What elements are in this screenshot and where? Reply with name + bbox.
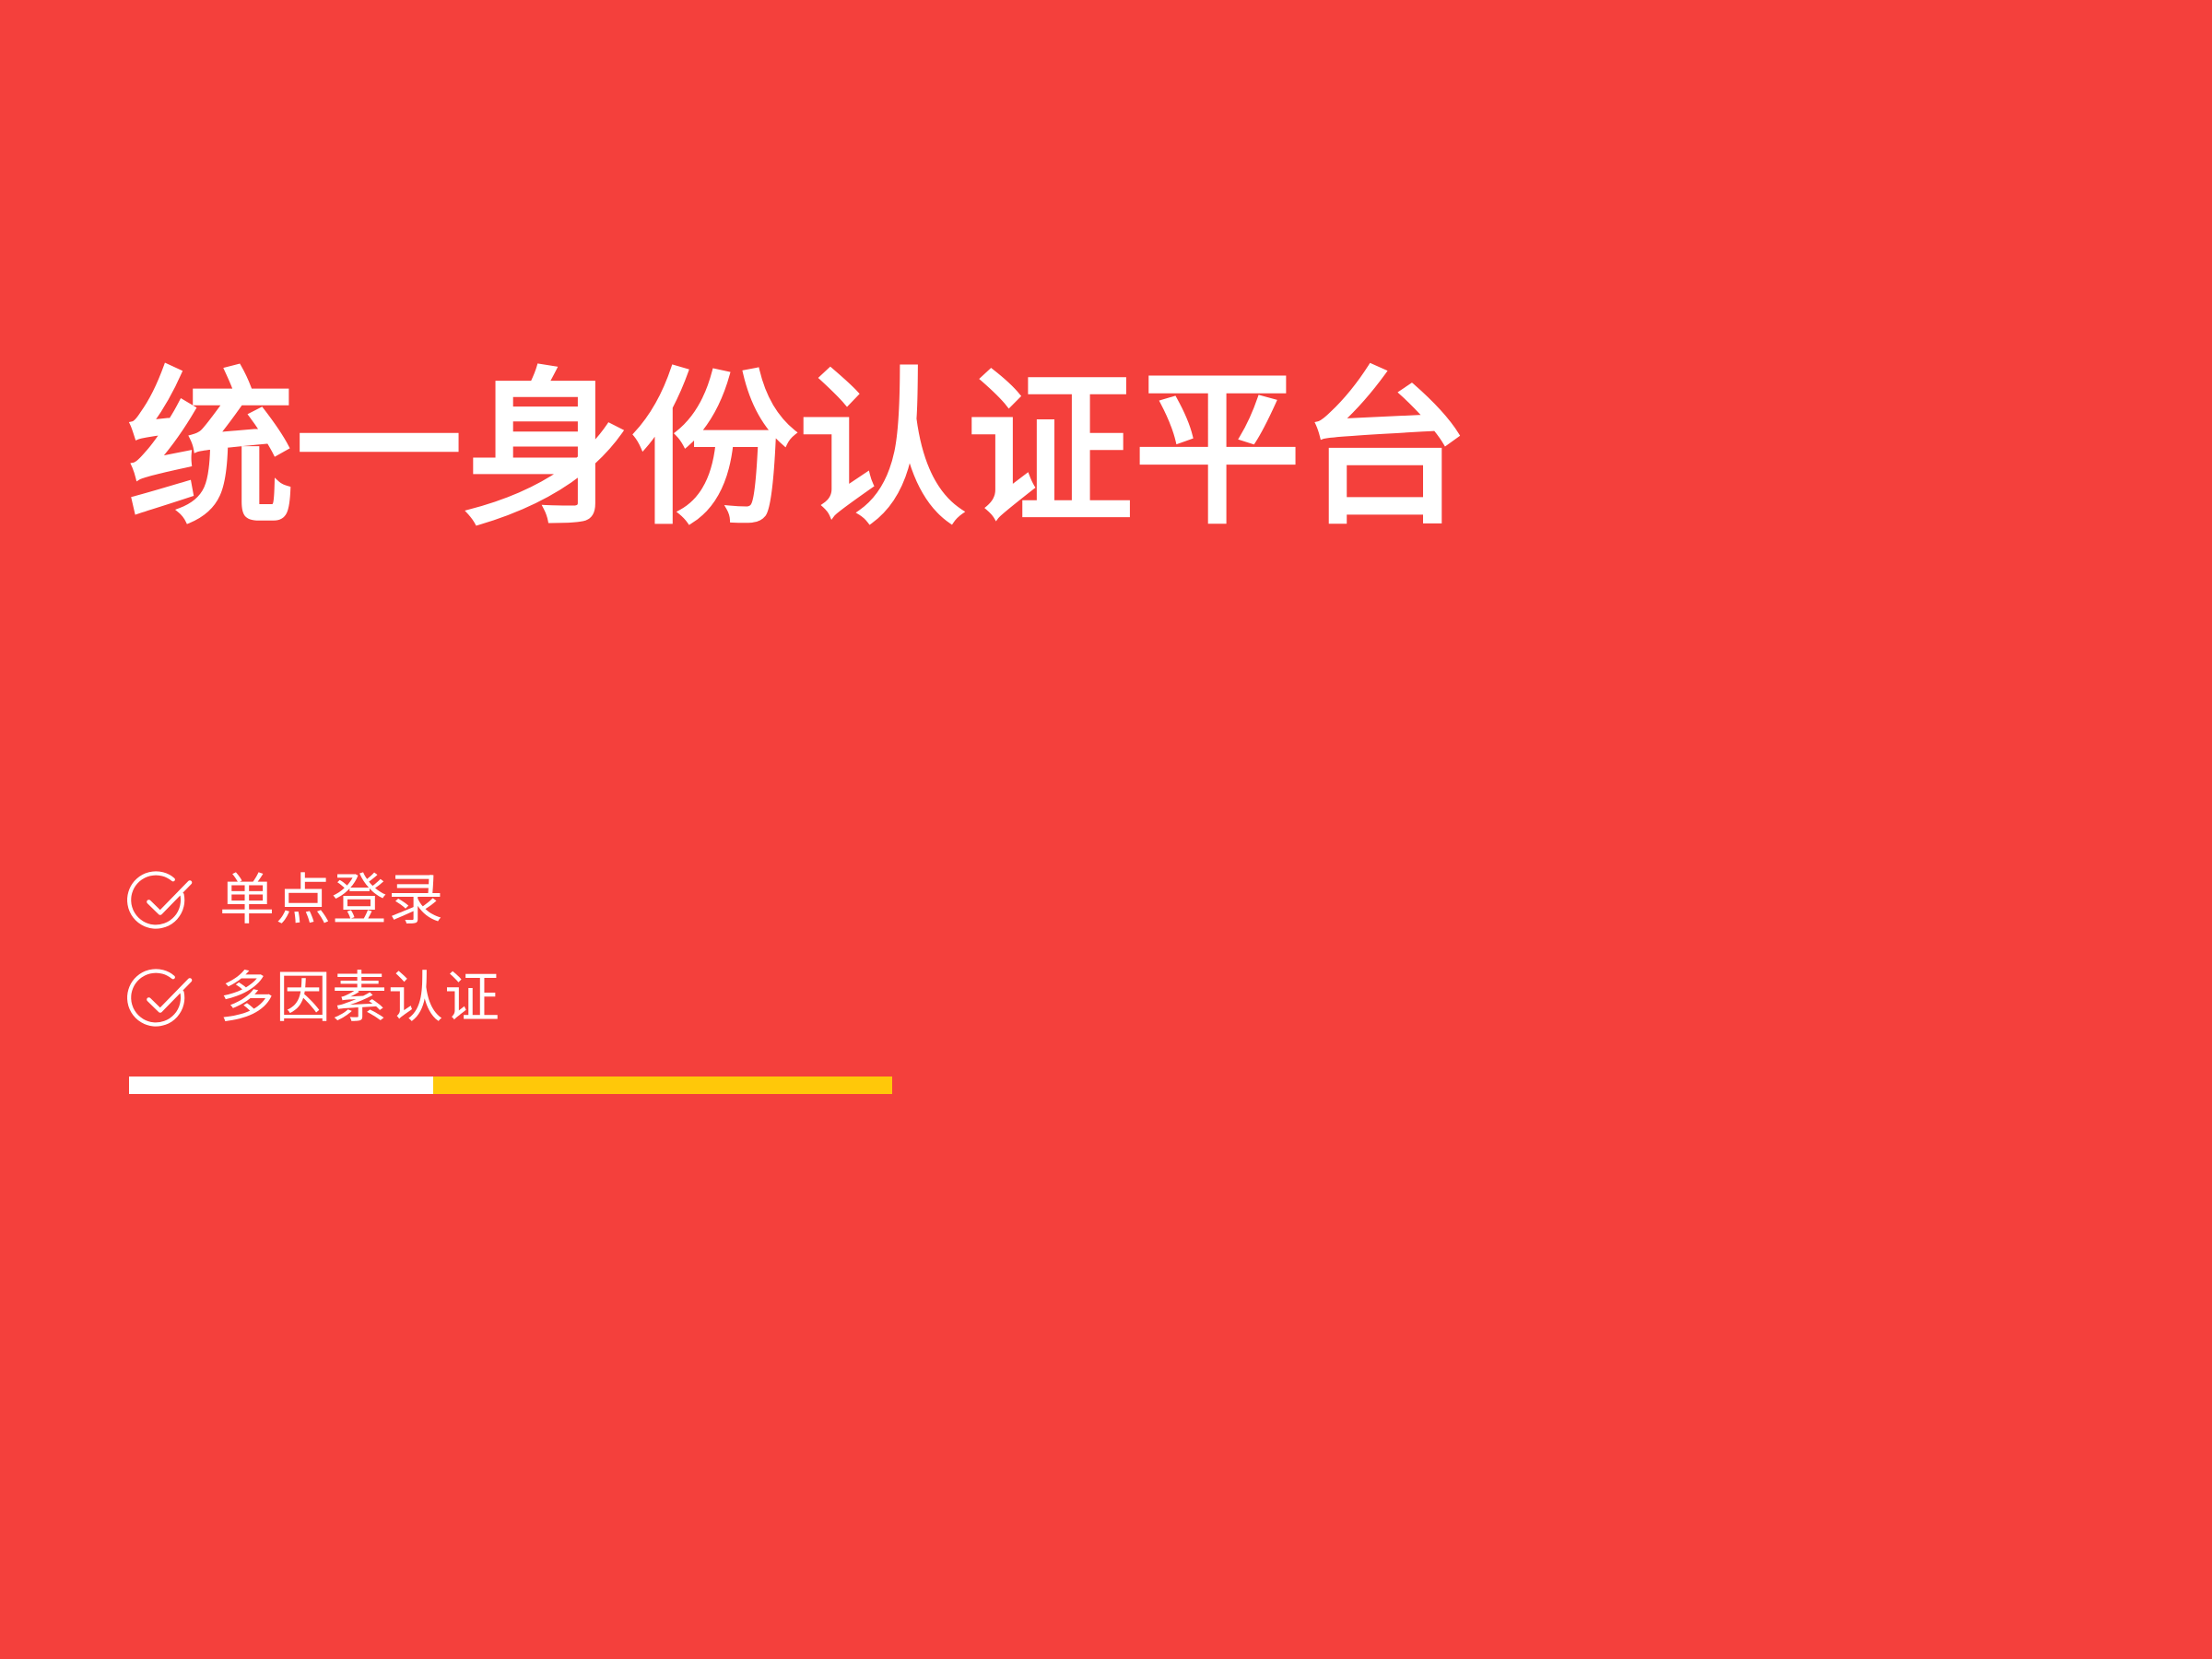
accent-bar-filled-segment <box>129 1077 433 1094</box>
title-block: 统一身份认证平台 <box>127 358 2063 570</box>
list-item-label: 单点登录 <box>219 867 444 934</box>
check-circle-icon <box>129 868 195 935</box>
list-item: 多因素认证 <box>129 960 1419 1036</box>
accent-bar <box>129 1077 892 1094</box>
slide-canvas: 统一身份认证平台 单点登录 多因素认证 <box>0 0 2212 1659</box>
check-circle-icon <box>129 966 195 1032</box>
page-title: 统一身份认证平台 <box>127 358 2063 542</box>
accent-bar-remaining-segment <box>433 1077 892 1094</box>
bullet-list: 单点登录 多因素认证 <box>129 863 1419 1058</box>
list-item-label: 多因素认证 <box>219 965 500 1031</box>
list-item: 单点登录 <box>129 863 1419 938</box>
